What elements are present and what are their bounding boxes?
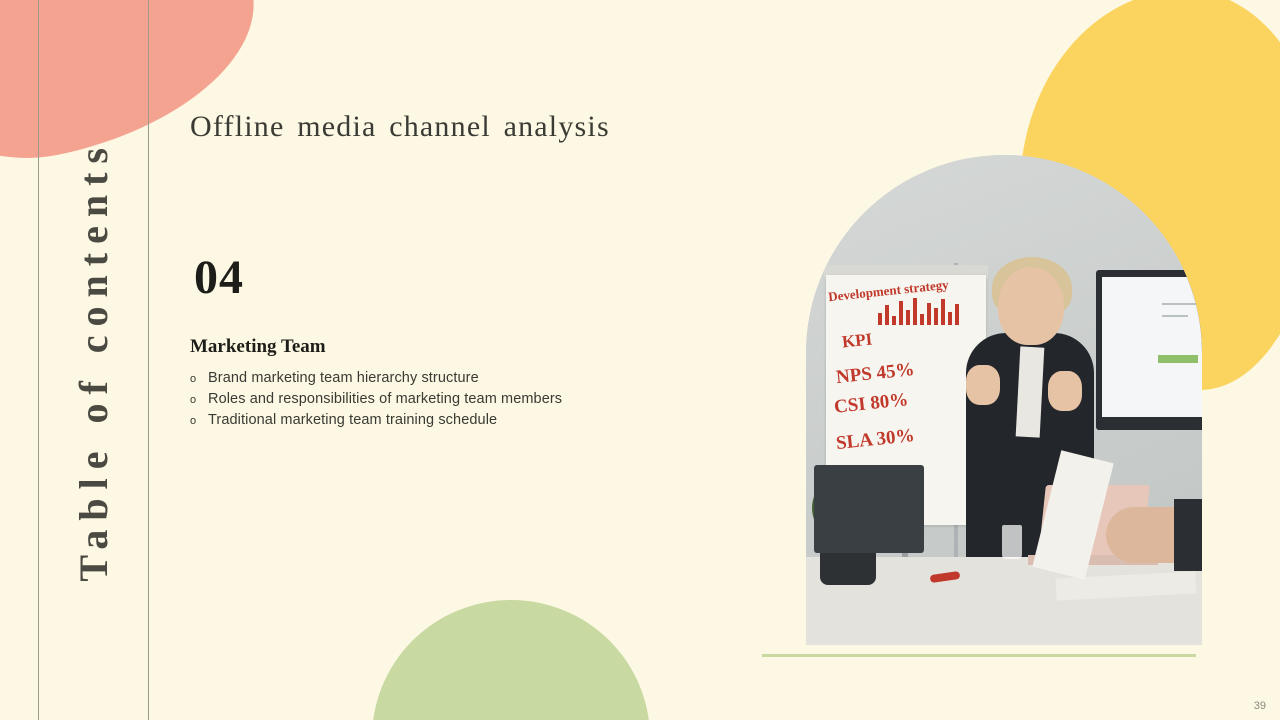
section-subtitle: Marketing Team: [190, 336, 326, 358]
photo-water-glass: [1002, 525, 1022, 559]
photo-presenter-shirt: [1016, 346, 1045, 437]
photo-presenter-left-hand: [966, 365, 1000, 405]
bullet-list: o Brand marketing team hierarchy structu…: [190, 370, 750, 433]
bullet-marker-icon: o: [190, 416, 208, 427]
list-item-label: Brand marketing team hierarchy structure: [208, 370, 479, 386]
presenter-photo: Development strategy KPI NPS 45% CSI 80%…: [806, 155, 1202, 645]
left-inner-divider: [148, 0, 149, 720]
photo-monitor-chart-bar: [1158, 355, 1198, 363]
bullet-marker-icon: o: [190, 395, 208, 406]
photo-underline-accent: [762, 654, 1196, 657]
photo-foreground-sleeve: [1174, 499, 1202, 571]
slide-canvas: Table of contents Offline media channel …: [0, 0, 1280, 720]
list-item-label: Traditional marketing team training sche…: [208, 412, 497, 428]
green-blob-decoration: [372, 600, 650, 720]
photo-dark-laptop: [814, 465, 924, 553]
vertical-section-title: Table of contents: [39, 0, 148, 720]
list-item: o Brand marketing team hierarchy structu…: [190, 370, 750, 386]
list-item: o Roles and responsibilities of marketin…: [190, 391, 750, 407]
list-item: o Traditional marketing team training sc…: [190, 412, 750, 428]
photo-monitor-screen: [1102, 277, 1202, 417]
photo-presenter-head: [998, 267, 1064, 345]
bullet-marker-icon: o: [190, 374, 208, 385]
photo-whiteboard-line-1: KPI: [841, 329, 873, 352]
page-title: Offline media channel analysis: [190, 110, 610, 144]
photo-whiteboard-bar-chart: [878, 295, 970, 325]
list-item-label: Roles and responsibilities of marketing …: [208, 391, 562, 407]
page-number: 39: [1254, 700, 1266, 712]
section-number: 04: [194, 250, 244, 305]
vertical-section-title-text: Table of contents: [70, 139, 117, 582]
photo-presenter-right-hand: [1048, 371, 1082, 411]
photo-monitor-chart-line: [1162, 303, 1196, 305]
photo-monitor-chart-line-secondary: [1162, 315, 1188, 317]
